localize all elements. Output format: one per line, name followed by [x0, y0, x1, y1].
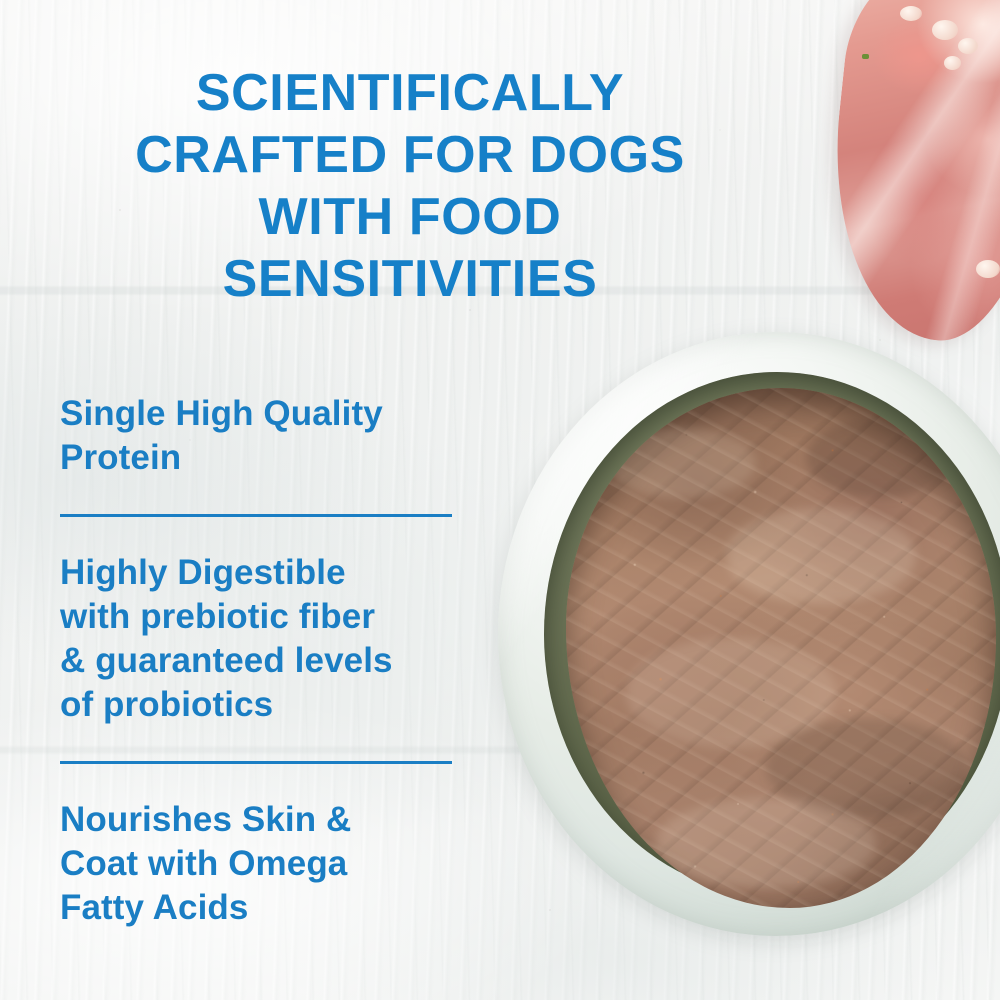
headline: SCIENTIFICALLY CRAFTED FOR DOGS WITH FOO…: [30, 62, 790, 310]
product-feature-graphic: SCIENTIFICALLY CRAFTED FOR DOGS WITH FOO…: [0, 0, 1000, 1000]
feature-line: Highly Digestible: [60, 551, 460, 595]
feature-skin-and-coat: Nourishes Skin & Coat with Omega Fatty A…: [60, 798, 460, 930]
feature-line: with prebiotic fiber: [60, 595, 460, 639]
feature-line: Coat with Omega: [60, 842, 460, 886]
feature-line: & guaranteed levels: [60, 639, 460, 683]
spacer: [60, 764, 460, 798]
feature-single-protein: Single High Quality Protein: [60, 392, 460, 480]
headline-line-3: WITH FOOD: [30, 186, 790, 248]
feature-line: Nourishes Skin &: [60, 798, 460, 842]
feature-line: Protein: [60, 436, 460, 480]
feature-highly-digestible: Highly Digestible with prebiotic fiber &…: [60, 551, 460, 727]
feature-line: Fatty Acids: [60, 886, 460, 930]
spacer: [60, 517, 460, 551]
feature-line: of probiotics: [60, 683, 460, 727]
feature-list: Single High Quality Protein Highly Diges…: [60, 392, 460, 930]
spacer: [60, 480, 460, 514]
headline-line-4: SENSITIVITIES: [30, 248, 790, 310]
headline-line-2: CRAFTED FOR DOGS: [30, 124, 790, 186]
feature-line: Single High Quality: [60, 392, 460, 436]
headline-line-1: SCIENTIFICALLY: [30, 62, 790, 124]
spacer: [60, 727, 460, 761]
